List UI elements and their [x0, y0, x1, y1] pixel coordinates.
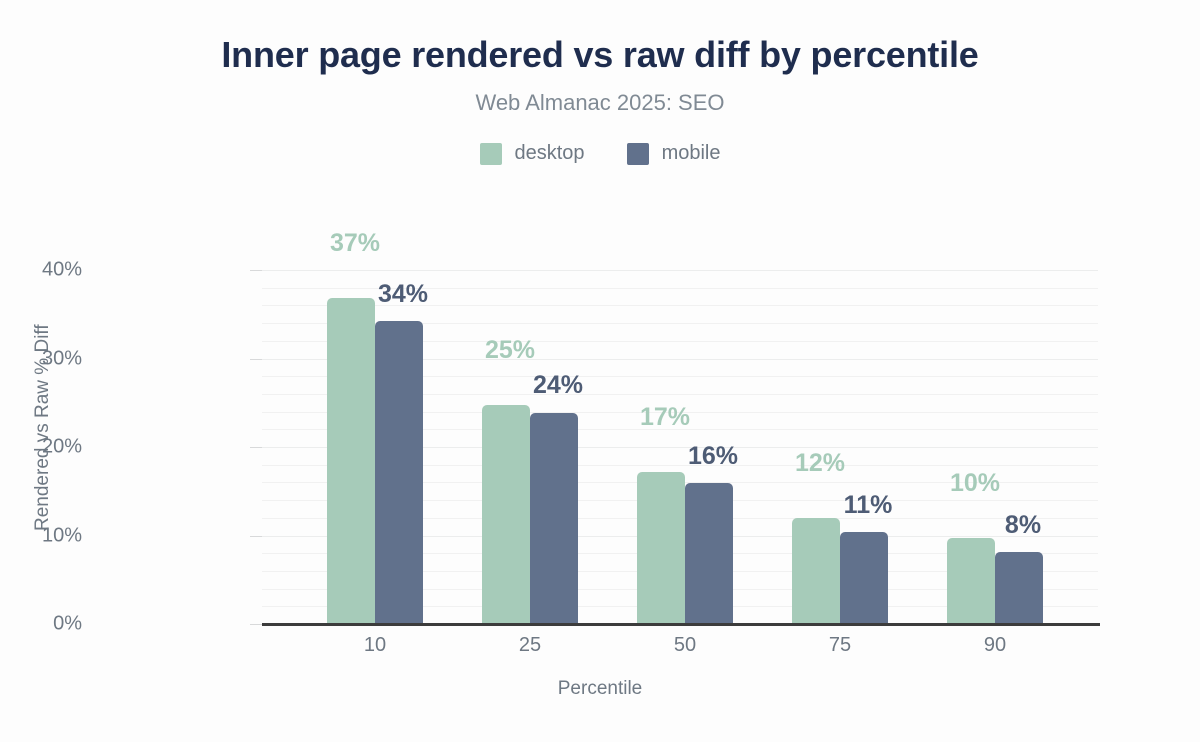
- data-label-mobile-50: 16%: [688, 442, 738, 471]
- bar-mobile-75[interactable]: [840, 532, 888, 624]
- legend-label-mobile: mobile: [662, 142, 721, 165]
- plot-area: [262, 270, 1098, 624]
- data-label-desktop-75: 12%: [795, 449, 845, 478]
- bar-mobile-90[interactable]: [995, 552, 1043, 624]
- legend-label-desktop: desktop: [515, 142, 585, 165]
- y-axis-tick-mark: [250, 270, 262, 271]
- bar-desktop-50[interactable]: [637, 472, 685, 624]
- bar-mobile-10[interactable]: [375, 321, 423, 624]
- data-label-desktop-50: 17%: [640, 403, 690, 432]
- x-axis-tick-label-10: 10: [315, 634, 435, 657]
- chart-title: Inner page rendered vs raw diff by perce…: [0, 34, 1200, 76]
- x-axis-tick-label-25: 25: [470, 634, 590, 657]
- legend-swatch-desktop: [480, 143, 502, 165]
- bar-mobile-25[interactable]: [530, 413, 578, 625]
- x-axis-title: Percentile: [0, 678, 1200, 700]
- y-axis-tick-label: 0%: [0, 613, 82, 636]
- x-axis-line: [262, 623, 1100, 626]
- y-axis-tick-label: 10%: [0, 524, 82, 547]
- gridline: [262, 270, 1098, 271]
- bar-desktop-25[interactable]: [482, 405, 530, 624]
- data-label-mobile-90: 8%: [1005, 511, 1041, 540]
- data-label-mobile-25: 24%: [533, 371, 583, 400]
- y-axis-tick-label: 30%: [0, 347, 82, 370]
- x-axis-tick-label-90: 90: [935, 634, 1055, 657]
- y-axis-tick-mark: [250, 624, 262, 625]
- data-label-mobile-75: 11%: [844, 491, 893, 520]
- y-axis-tick-mark: [250, 359, 262, 360]
- y-axis-tick-mark: [250, 536, 262, 537]
- chart-container: Inner page rendered vs raw diff by perce…: [0, 0, 1200, 742]
- bar-desktop-90[interactable]: [947, 538, 995, 624]
- chart-legend: desktop mobile: [0, 142, 1200, 165]
- legend-swatch-mobile: [627, 143, 649, 165]
- x-axis-tick-label-75: 75: [780, 634, 900, 657]
- chart-subtitle: Web Almanac 2025: SEO: [0, 90, 1200, 116]
- data-label-desktop-25: 25%: [485, 336, 535, 365]
- data-label-desktop-90: 10%: [950, 469, 1000, 498]
- bar-desktop-75[interactable]: [792, 518, 840, 624]
- y-axis-tick-label: 20%: [0, 436, 82, 459]
- data-label-mobile-10: 34%: [378, 280, 428, 309]
- bar-desktop-10[interactable]: [327, 298, 375, 624]
- y-axis-tick-mark: [250, 447, 262, 448]
- legend-item-desktop[interactable]: desktop: [480, 142, 585, 165]
- x-axis-tick-label-50: 50: [625, 634, 745, 657]
- legend-item-mobile[interactable]: mobile: [627, 142, 721, 165]
- data-label-desktop-10: 37%: [330, 229, 380, 258]
- y-axis-tick-label: 40%: [0, 259, 82, 282]
- bar-mobile-50[interactable]: [685, 483, 733, 624]
